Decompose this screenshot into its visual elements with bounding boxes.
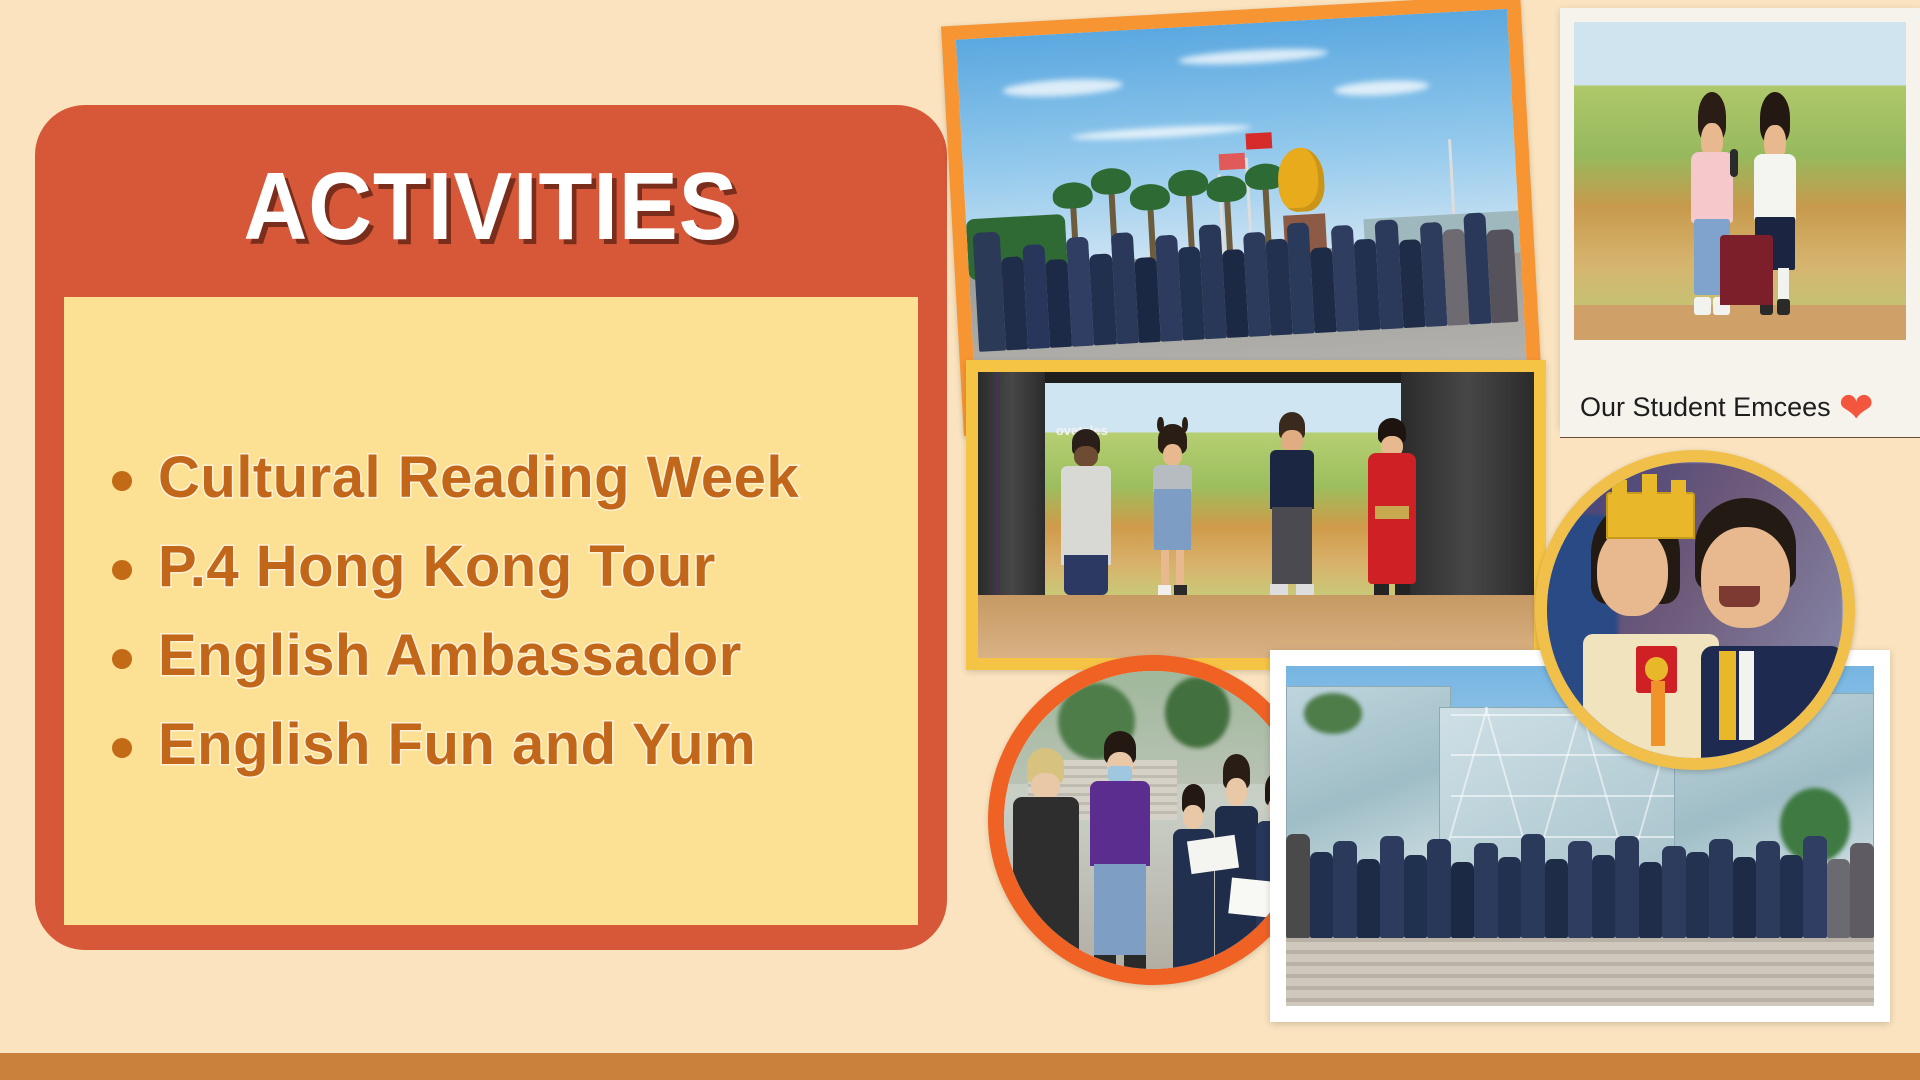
photo-student-interview	[988, 655, 1318, 985]
list-item: P.4 Hong Kong Tour	[112, 533, 878, 600]
bullet-dot-icon	[112, 471, 132, 491]
list-item-label: English Ambassador	[158, 622, 742, 689]
list-item-label: Cultural Reading Week	[158, 444, 799, 511]
bottom-accent-bar	[0, 1053, 1920, 1080]
bullet-dot-icon	[112, 560, 132, 580]
activities-card: ACTIVITIES Cultural Reading Week P.4 Hon…	[35, 105, 947, 950]
list-item: English Ambassador	[112, 622, 878, 689]
activities-list: Cultural Reading Week P.4 Hong Kong Tour…	[64, 297, 918, 925]
photo-student-emcees	[1560, 8, 1920, 428]
heart-icon: ❤	[1839, 387, 1874, 429]
bullet-dot-icon	[112, 649, 132, 669]
photo-costumed-kids	[1535, 450, 1855, 770]
list-item: English Fun and Yum	[112, 711, 878, 778]
list-item-label: P.4 Hong Kong Tour	[158, 533, 716, 600]
list-item: Cultural Reading Week	[112, 444, 878, 511]
page-title: ACTIVITIES	[71, 157, 910, 258]
photo-costumed-kids-image	[1547, 462, 1843, 758]
photo-collage: Our Student Emcees ❤ ovetales	[940, 0, 1920, 1053]
photo-student-interview-image	[1004, 671, 1302, 969]
bullet-dot-icon	[112, 738, 132, 758]
photo-stage-performance-image: ovetales	[978, 372, 1534, 658]
emcee-caption-label: Our Student Emcees	[1580, 392, 1831, 423]
list-item-label: English Fun and Yum	[158, 711, 756, 778]
emcee-caption: Our Student Emcees ❤	[1560, 378, 1920, 438]
photo-student-emcees-image	[1574, 22, 1906, 340]
photo-stage-performance: ovetales	[966, 360, 1546, 670]
slide-canvas: ACTIVITIES Cultural Reading Week P.4 Hon…	[0, 0, 1920, 1080]
